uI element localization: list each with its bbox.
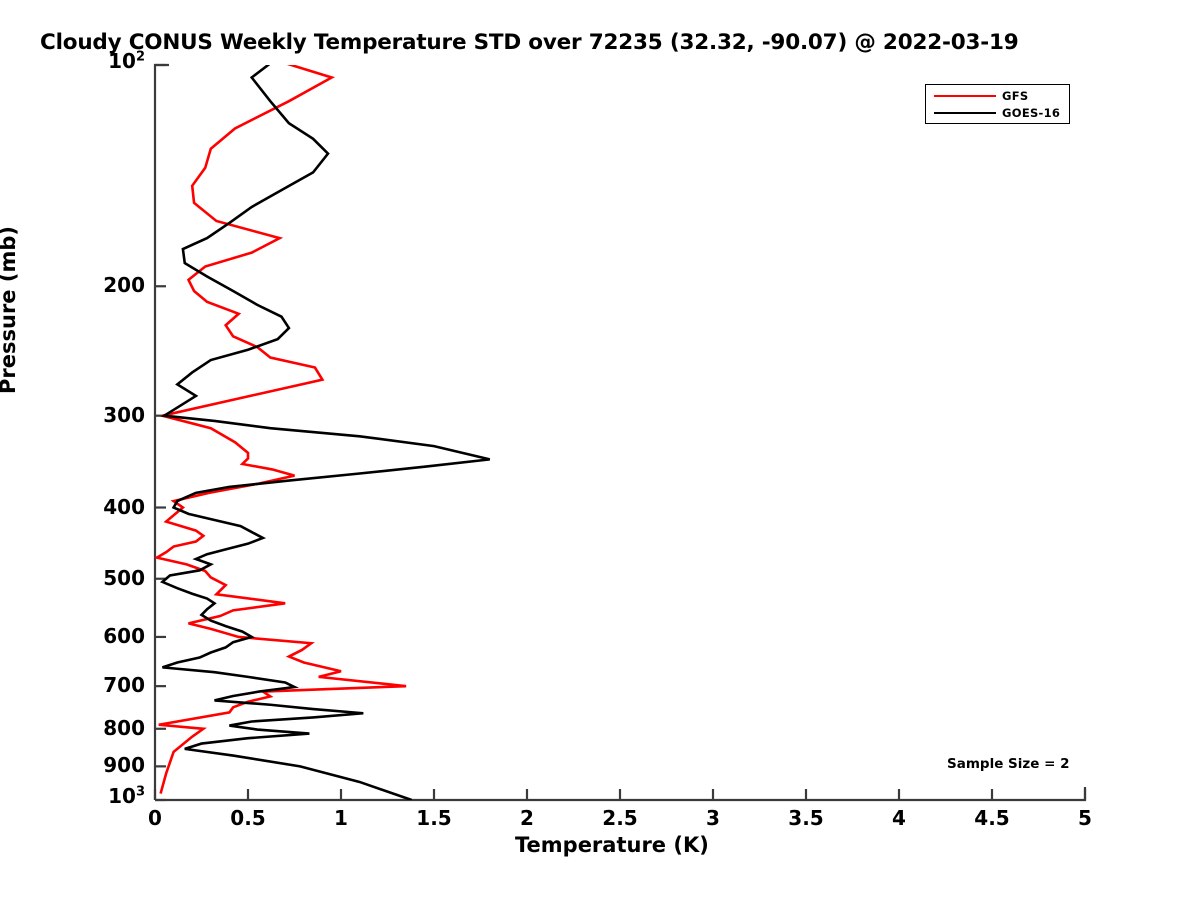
legend-swatch-gfs [934,95,996,97]
y-tick-label: 400 [0,495,145,519]
x-axis-title: Temperature (K) [515,833,709,857]
legend: GFS GOES-16 [925,84,1070,124]
y-tick-label: 600 [0,624,145,648]
y-tick-label: 102 [0,49,145,73]
x-tick-label: 4 [859,806,939,830]
data-series [157,52,490,800]
x-tick-label: 5 [1045,806,1125,830]
chart-canvas: Cloudy CONUS Weekly Temperature STD over… [0,0,1200,900]
sample-size-annotation: Sample Size = 2 [947,756,1070,772]
y-tick-label: 700 [0,673,145,697]
x-tick-label: 0 [115,806,195,830]
y-tick-label: 900 [0,753,145,777]
series-line-gfs [157,59,406,794]
x-tick-label: 1.5 [394,806,474,830]
legend-swatch-goes16 [934,112,996,114]
y-tick-label: 103 [0,784,145,808]
y-tick-label: 300 [0,403,145,427]
x-tick-label: 3 [673,806,753,830]
y-tick-label: 500 [0,566,145,590]
x-tick-label: 4.5 [952,806,1032,830]
legend-item-goes16: GOES-16 [926,104,1069,122]
x-tick-label: 1 [301,806,381,830]
legend-label-gfs: GFS [1002,89,1028,103]
y-tick-label: 200 [0,273,145,297]
y-tick-label: 800 [0,716,145,740]
x-tick-label: 3.5 [766,806,846,830]
x-tick-label: 2 [487,806,567,830]
series-line-goes-16 [162,52,489,800]
legend-label-goes16: GOES-16 [1002,106,1060,120]
legend-item-gfs: GFS [926,87,1069,105]
x-tick-label: 0.5 [208,806,288,830]
x-tick-label: 2.5 [580,806,660,830]
y-axis-title: Pressure (mb) [0,190,20,430]
